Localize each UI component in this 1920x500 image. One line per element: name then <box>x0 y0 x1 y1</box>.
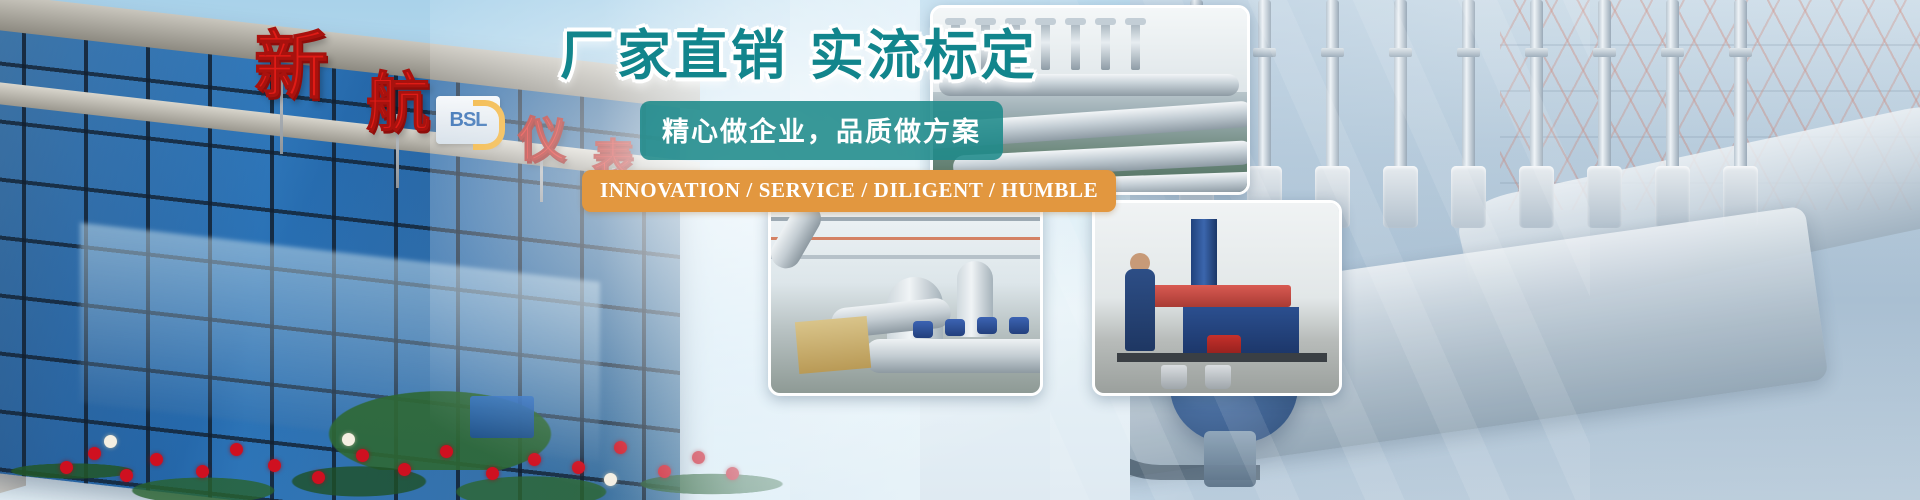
photo-thumbnail-piping-workshop <box>768 200 1043 396</box>
sign-character-1: 新 <box>254 6 328 113</box>
sign-character-3: 仪 <box>518 100 566 170</box>
banner-tagline: INNOVATION / SERVICE / DILIGENT / HUMBLE <box>582 170 1116 212</box>
piping-workshop-image <box>771 203 1040 393</box>
promo-banner: 新 航 BSL 仪 表 <box>0 0 1920 500</box>
photo-thumbnail-welding-machine <box>1092 200 1342 396</box>
flower-bed <box>0 390 790 500</box>
welding-machine-image <box>1095 203 1339 393</box>
bsl-logo: BSL <box>436 96 500 144</box>
banner-headline: 厂家直销 实流标定 <box>560 28 1060 85</box>
sign-character-2: 航 <box>366 52 430 144</box>
banner-text-block: 厂家直销 实流标定 精心做企业，品质做方案 INNOVATION / SERVI… <box>560 28 1060 212</box>
banner-subheadline: 精心做企业，品质做方案 <box>640 101 1003 160</box>
